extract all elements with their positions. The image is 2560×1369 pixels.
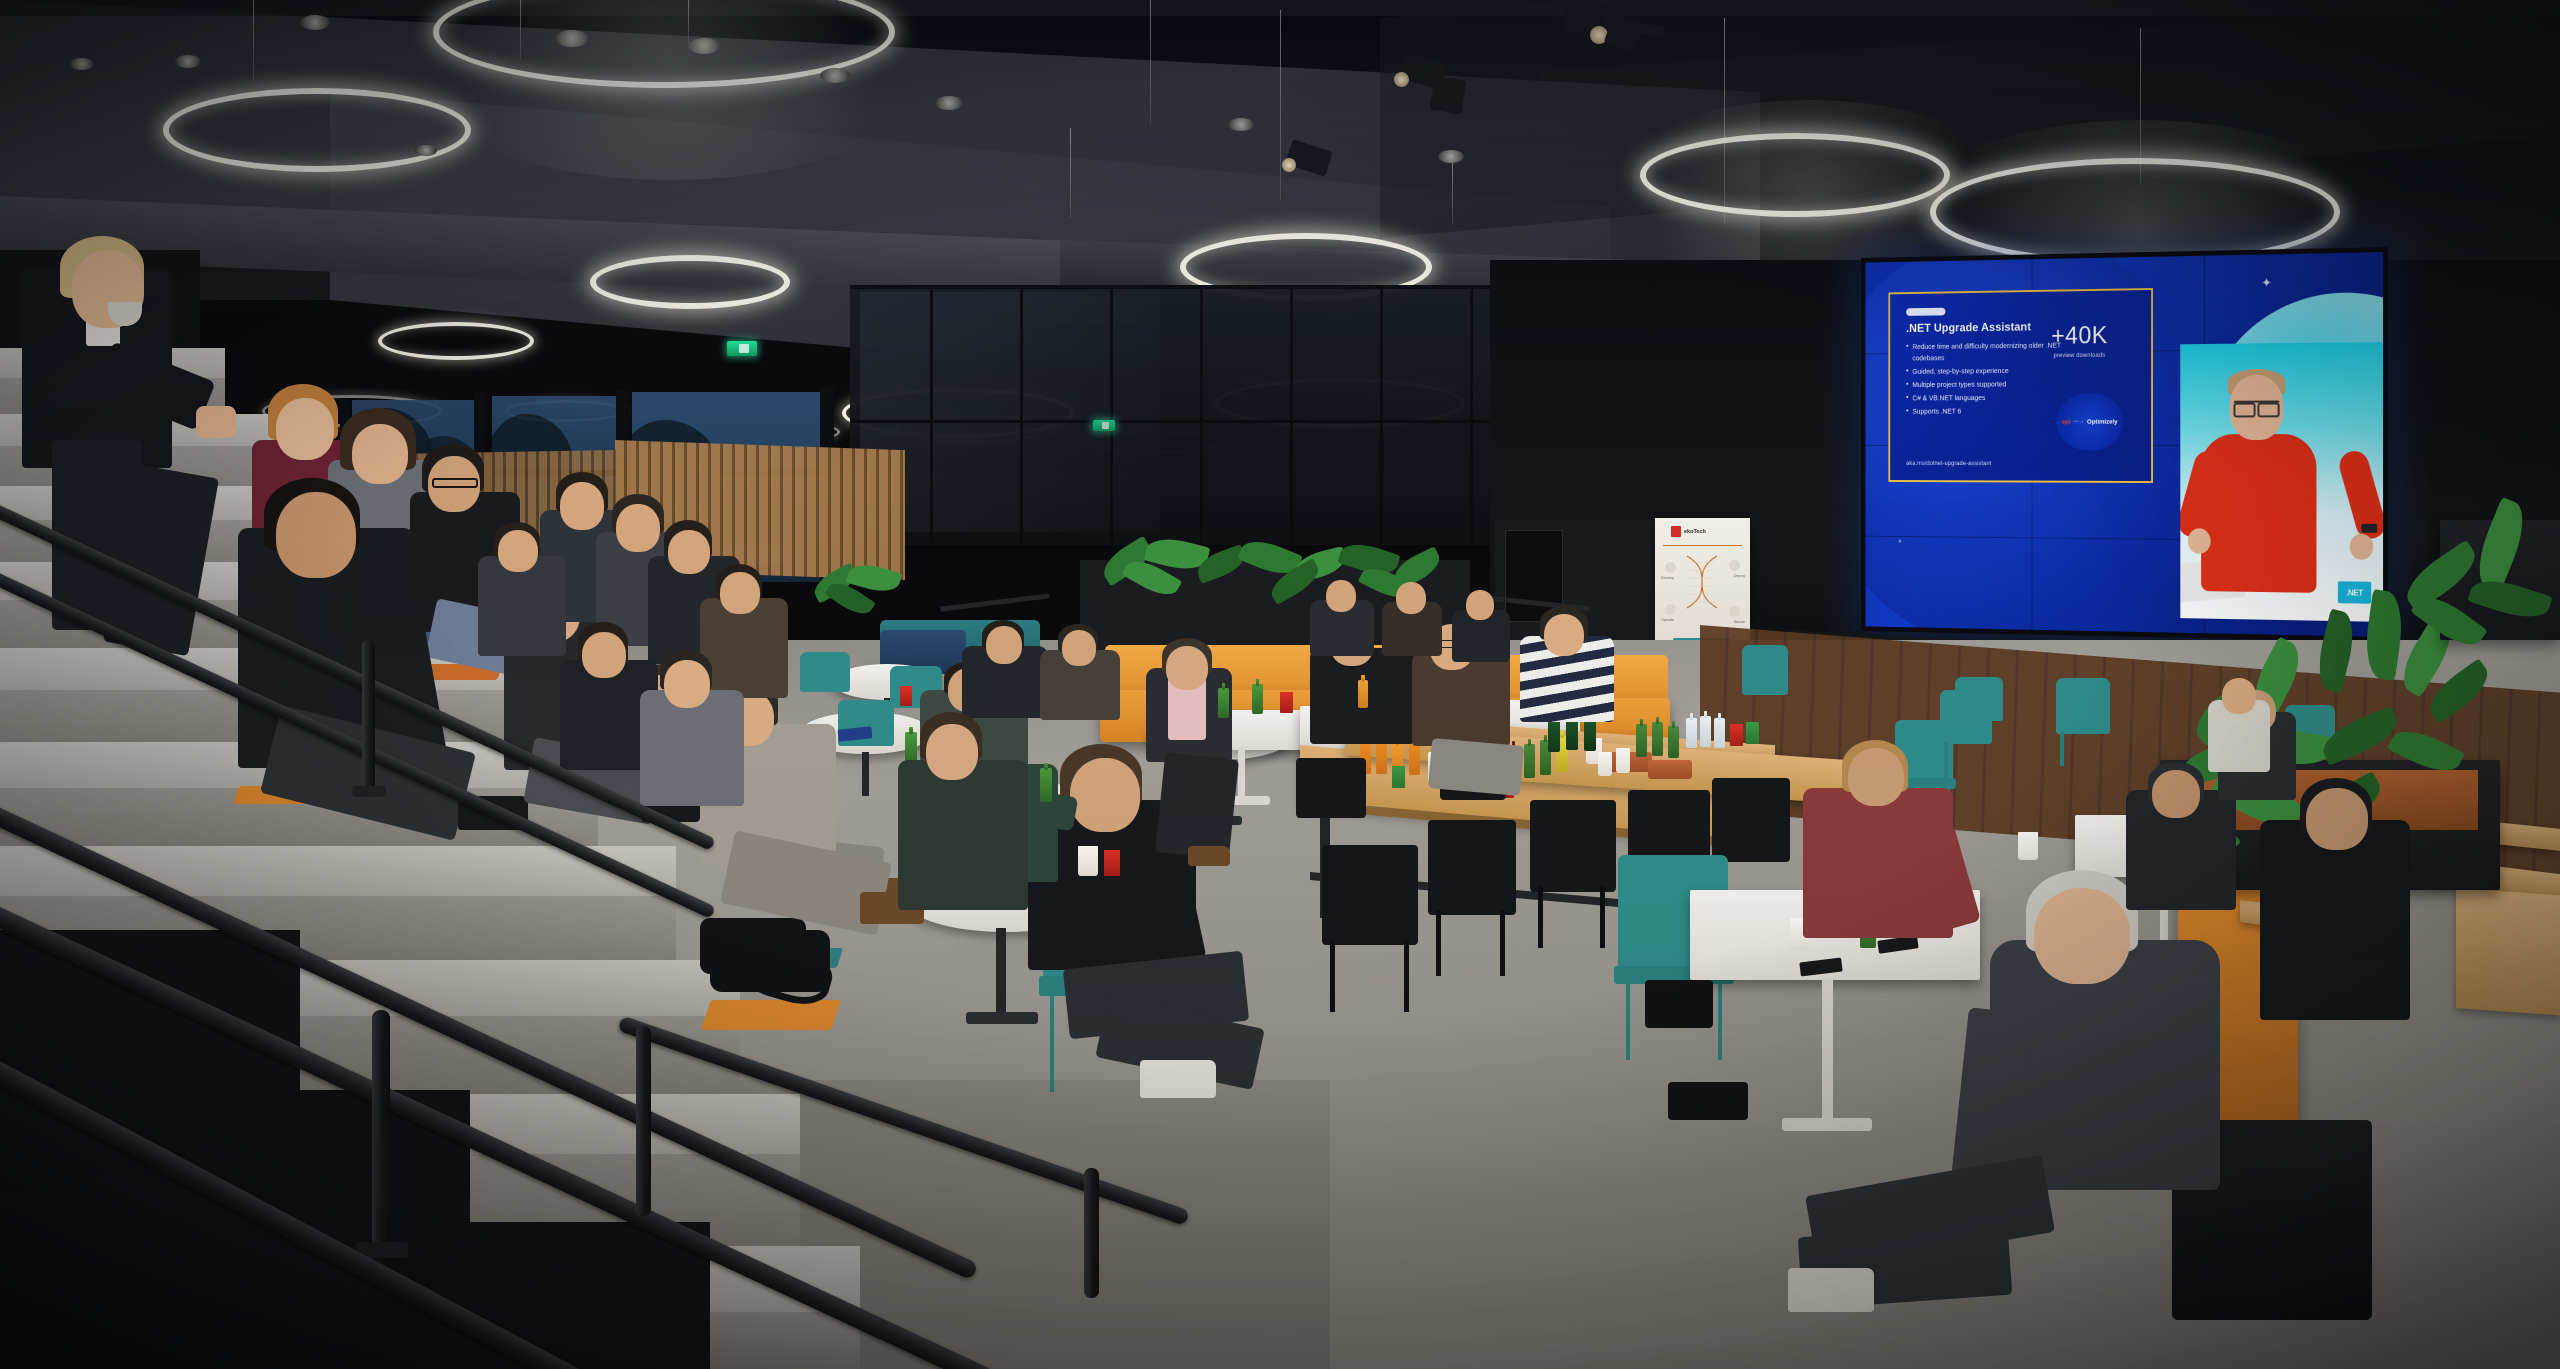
chair-leg xyxy=(2060,732,2064,766)
exit-sign xyxy=(1093,420,1115,431)
wood-counter xyxy=(2456,888,2560,1015)
ring-pendant-light xyxy=(1640,133,1950,217)
chair-backrest xyxy=(1428,820,1516,915)
chair-leg xyxy=(1718,980,1722,1060)
pendant-wire xyxy=(1280,10,1281,200)
banner-icon xyxy=(1665,604,1676,615)
exit-sign xyxy=(727,341,757,356)
video-wall-bezel xyxy=(1861,247,2388,642)
beer-bottle xyxy=(1636,724,1647,757)
shoe xyxy=(1188,846,1230,866)
video-wall[interactable]: ✦ ✦ ✦ .NET .NET Upgrade Assistant xyxy=(1861,247,2388,642)
beer-bottle xyxy=(1668,726,1679,758)
chair-leg xyxy=(1404,940,1409,1012)
beer-bottle xyxy=(1252,684,1263,714)
banner-icon xyxy=(1729,560,1740,571)
recessed-ceiling-light xyxy=(688,38,720,54)
juice-bottle xyxy=(1409,742,1420,775)
person-head xyxy=(2222,678,2256,714)
table-leg xyxy=(1822,978,1833,1123)
paper-cup xyxy=(1598,752,1612,776)
cola-can xyxy=(1280,692,1293,713)
handrail-post xyxy=(1084,1168,1099,1298)
table-foot xyxy=(966,1012,1038,1024)
backpack xyxy=(1668,1082,1748,1120)
banner-caption: Develop xyxy=(1661,576,1674,580)
glasses-icon xyxy=(432,478,478,488)
banner-brand-name: ekoTech xyxy=(1684,529,1706,535)
chair-leg xyxy=(1944,742,1948,778)
chair-leg xyxy=(1600,886,1605,948)
person-head xyxy=(926,724,978,780)
person-leg xyxy=(1155,752,1239,859)
handrail-post xyxy=(362,640,375,790)
glass-mullion xyxy=(930,285,933,545)
chair-leg xyxy=(1626,980,1630,1060)
person-head xyxy=(1396,582,1426,614)
beer-bottle xyxy=(1524,744,1535,778)
spotlight-lens xyxy=(1282,158,1296,172)
pendant-wire xyxy=(1150,0,1151,125)
person-torso xyxy=(2260,820,2410,1020)
banner-logo: ekoTech xyxy=(1671,526,1729,537)
chair-backrest xyxy=(1296,758,1366,818)
glass-mullion xyxy=(1380,285,1383,545)
chair-backrest xyxy=(2056,678,2110,734)
person-head xyxy=(352,424,408,484)
person-head xyxy=(720,572,760,614)
person-head xyxy=(668,530,710,574)
spotlight-fixture xyxy=(1429,75,1466,114)
table-foot xyxy=(1782,1118,1872,1131)
person-head xyxy=(664,660,710,708)
ring-pendant-light xyxy=(590,255,790,309)
recessed-ceiling-light xyxy=(820,68,850,83)
chair-backrest xyxy=(1742,645,1788,695)
water-bottle xyxy=(1714,718,1725,748)
banner-infinity-diagram xyxy=(1683,550,1721,630)
recessed-ceiling-light xyxy=(1438,150,1464,163)
person-head xyxy=(2034,888,2130,984)
pendant-wire xyxy=(1070,128,1071,218)
banner-caption: Deploy xyxy=(1734,574,1745,578)
person-head xyxy=(582,632,626,678)
banner-icon xyxy=(1665,562,1676,573)
recessed-ceiling-light xyxy=(70,58,94,70)
beer-bottle xyxy=(1652,722,1663,756)
soda-can xyxy=(1392,766,1405,788)
table-leg xyxy=(996,928,1006,1018)
person-head xyxy=(1326,580,1356,612)
paper-cup xyxy=(1616,748,1630,773)
handrail-post xyxy=(636,1026,651,1216)
glass-mullion xyxy=(1200,285,1203,545)
seat-cushion xyxy=(701,1000,841,1030)
banner-icon xyxy=(1729,606,1740,617)
glass-mullion xyxy=(1110,285,1113,545)
recessed-ceiling-light xyxy=(555,30,589,47)
person-head xyxy=(2152,770,2200,818)
water-bottle xyxy=(1700,716,1711,747)
infinity-loop-icon xyxy=(1683,550,1721,630)
person-head xyxy=(1166,646,1208,690)
rollup-banner: ekoTech Develop Deploy Operate Secure xyxy=(1655,518,1750,640)
banner-caption: Operate xyxy=(1661,618,1674,622)
paper-cup xyxy=(2018,832,2038,860)
wine-bottle xyxy=(1548,718,1560,752)
banner-caption: Secure xyxy=(1734,620,1745,624)
beer-bottle xyxy=(1040,768,1052,802)
person-head xyxy=(560,482,604,530)
chair-leg xyxy=(1050,992,1054,1092)
juice-bottle xyxy=(1376,740,1387,774)
person-head xyxy=(1070,758,1140,832)
chair-backrest xyxy=(1955,677,2003,721)
glass-mullion xyxy=(1020,285,1023,545)
person-head xyxy=(2306,788,2368,850)
person-head xyxy=(1062,630,1096,666)
chair-leg xyxy=(1436,910,1441,976)
ring-pendant-light xyxy=(163,88,471,172)
person-hand xyxy=(196,406,236,438)
pendant-wire xyxy=(253,0,254,82)
chair-backrest xyxy=(1712,778,1790,862)
recessed-ceiling-light xyxy=(300,15,330,30)
banner-logo-mark-icon xyxy=(1671,526,1681,537)
person-head xyxy=(1466,590,1494,620)
glass-mullion xyxy=(1470,285,1473,545)
chair-backrest xyxy=(1530,800,1616,892)
backpack xyxy=(1645,980,1713,1028)
paper-cup xyxy=(1078,846,1098,876)
person-head xyxy=(986,626,1022,664)
chair-backrest xyxy=(800,652,850,692)
glass-mullion xyxy=(1290,285,1293,545)
chair-leg xyxy=(1500,910,1505,976)
glass-reflection xyxy=(860,292,1160,532)
glass-mullion xyxy=(850,285,1490,289)
cola-can xyxy=(1104,850,1120,876)
ring-pendant-light xyxy=(378,322,534,360)
beer-bottle xyxy=(1218,688,1229,718)
sneaker xyxy=(1140,1060,1216,1098)
person-head xyxy=(616,504,660,552)
sneaker xyxy=(1788,1268,1874,1312)
recessed-ceiling-light xyxy=(415,145,437,156)
table-leg xyxy=(1238,748,1245,802)
soda-can xyxy=(1746,722,1759,744)
person-head xyxy=(1544,614,1584,656)
person-head xyxy=(1848,748,1904,806)
chair-leg xyxy=(1538,886,1543,948)
cola-can xyxy=(1730,724,1743,746)
chair-backrest xyxy=(1322,845,1418,945)
water-bottle xyxy=(1686,718,1697,748)
spotlight-lens xyxy=(1394,72,1409,87)
person-head xyxy=(498,530,538,572)
backpack xyxy=(710,930,830,992)
table-leg xyxy=(862,752,869,796)
recessed-ceiling-light xyxy=(1228,118,1254,131)
chair-leg xyxy=(1330,940,1335,1012)
handrail-post-base xyxy=(352,786,386,797)
handrail-post xyxy=(372,1010,390,1250)
recessed-ceiling-light xyxy=(175,55,201,68)
person-head xyxy=(276,492,356,578)
back-handrail xyxy=(940,593,1050,611)
juice-bottle xyxy=(1358,680,1368,708)
cola-can xyxy=(900,686,912,706)
recessed-ceiling-light xyxy=(935,96,963,110)
person-head xyxy=(276,398,334,460)
conference-room-photo: ✦ ✦ ✦ .NET .NET Upgrade Assistant xyxy=(0,0,2560,1369)
person-torso xyxy=(898,760,1028,910)
snack-bowl xyxy=(1648,760,1692,779)
banner-divider xyxy=(1663,545,1742,546)
person-leg xyxy=(1428,738,1524,796)
glass-mullion xyxy=(850,420,1490,423)
